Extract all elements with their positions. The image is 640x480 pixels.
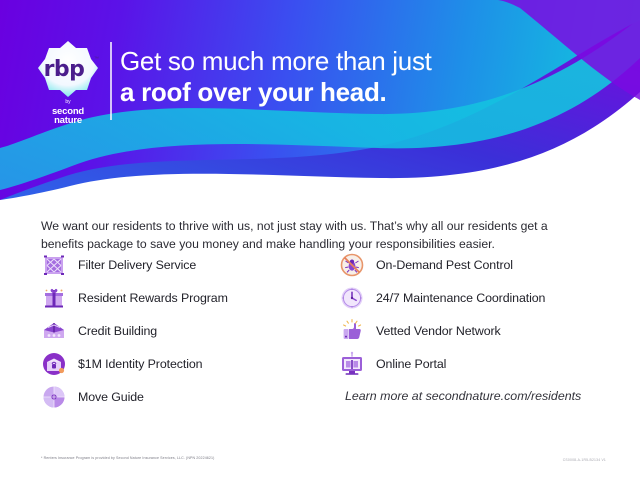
rbp-logo: rbp ™ by second nature [33, 40, 103, 122]
briefcase-lock-icon [41, 351, 67, 377]
benefit-row-identity-protection: $1M Identity Protection [41, 347, 331, 380]
benefit-row-move-guide: Move Guide [41, 380, 331, 413]
logo-wordmark-text: rbp [44, 57, 85, 82]
logo-trademark: ™ [94, 56, 99, 62]
thumbs-up-icon [339, 318, 365, 344]
no-pest-icon [339, 252, 365, 278]
benefit-row-online-portal: Online Portal [339, 347, 629, 380]
footer-document-code: CS0008-A-1R5-B2134 V1 [563, 458, 606, 462]
credit-card-stars-icon [41, 318, 67, 344]
benefit-row-on-demand-pest-control: On-Demand Pest Control [339, 248, 629, 281]
benefit-label: Move Guide [78, 390, 144, 404]
benefit-row-filter-delivery-service: Filter Delivery Service [41, 248, 331, 281]
benefit-label: Filter Delivery Service [78, 258, 196, 272]
footer-disclaimer: * Renters Insurance Program is provided … [41, 456, 214, 460]
benefit-label: On-Demand Pest Control [376, 258, 513, 272]
hero-vertical-divider [110, 42, 112, 120]
hero-banner: rbp ™ by second nature Get so much more … [0, 0, 640, 200]
compass-icon [41, 384, 67, 410]
gift-icon [41, 285, 67, 311]
logo-subbrand: by second nature [33, 98, 103, 125]
benefit-label: Online Portal [376, 357, 446, 371]
benefits-flyer: rbp ™ by second nature Get so much more … [0, 0, 640, 480]
benefit-label: 24/7 Maintenance Coordination [376, 291, 545, 305]
benefit-label: Credit Building [78, 324, 157, 338]
benefit-label: Vetted Vendor Network [376, 324, 501, 338]
benefit-label: Resident Rewards Program [78, 291, 228, 305]
logo-by-text: by [33, 98, 103, 107]
clock-icon [339, 285, 365, 311]
benefit-row-credit-building: Credit Building [41, 314, 331, 347]
logo-brand-line2: nature [33, 116, 103, 125]
monitor-icon [339, 351, 365, 377]
benefit-row-maintenance-coordination: 24/7 Maintenance Coordination [339, 281, 629, 314]
filter-icon [41, 252, 67, 278]
logo-wordmark: rbp [33, 40, 95, 98]
learn-more-text: Learn more at secondnature.com/residents [339, 380, 629, 403]
hero-headline: Get so much more than just a roof over y… [120, 46, 600, 108]
headline-line-1: Get so much more than just [120, 46, 600, 77]
benefit-row-resident-rewards-program: Resident Rewards Program [41, 281, 331, 314]
benefits-column-left: Filter Delivery Service Resident [41, 248, 331, 413]
headline-line-2: a roof over your head. [120, 77, 600, 108]
benefit-row-vetted-vendor-network: Vetted Vendor Network [339, 314, 629, 347]
benefit-label: $1M Identity Protection [78, 357, 202, 371]
benefits-column-right: On-Demand Pest Control 24/7 Maintenance … [339, 248, 629, 403]
